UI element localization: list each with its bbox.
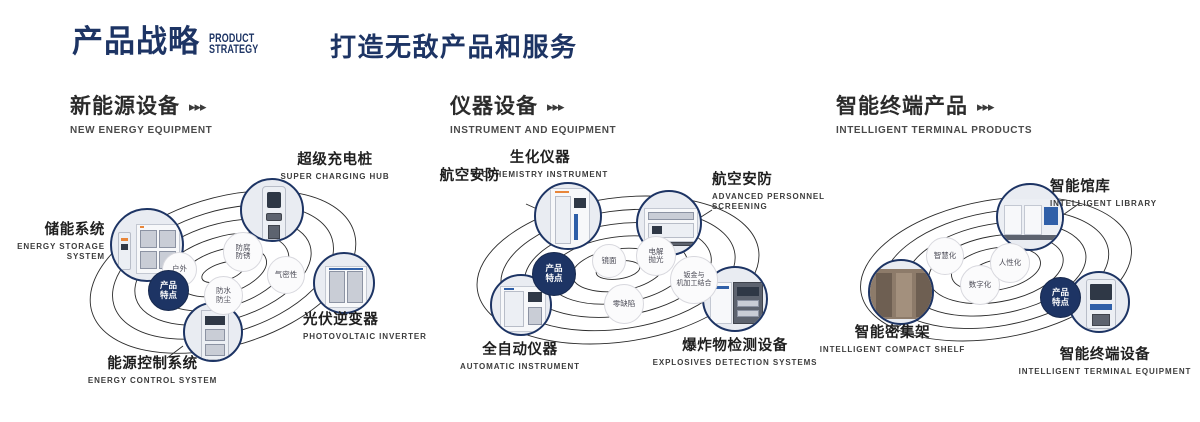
page-subtitle: 打造无敌产品和服务 [330, 34, 578, 60]
label-en: ENERGY CONTROL SYSTEM [65, 376, 240, 386]
bubble-zero-defect[interactable]: 零缺陷 [604, 284, 644, 324]
bubble-label: 气密性 [275, 271, 298, 279]
bubble-anticorrosion[interactable]: 防腐 防锈 [223, 232, 263, 272]
label-en: EXPLOSIVES DETECTION SYSTEMS [640, 358, 830, 368]
bubble-label-line2: 防锈 [236, 252, 251, 260]
label-cn: 超级充电桩 [265, 152, 405, 169]
label-cn: 智能终端设备 [1010, 347, 1200, 364]
core-label-line2: 特点 [1052, 298, 1069, 308]
label-en: INTELLIGENT TERMINAL EQUIPMENT [1010, 367, 1200, 377]
bubble-intelligent[interactable]: 智慧化 [926, 237, 964, 275]
bubble-waterproof-dustproof[interactable]: 防水 防尘 [204, 276, 243, 315]
section-title-en: INTELLIGENT TERMINAL PRODUCTS [836, 125, 1032, 136]
label-en: SUPER CHARGING HUB [265, 172, 405, 182]
bubble-label-line2: 防尘 [216, 296, 231, 304]
label-cn: 全自动仪器 [430, 342, 610, 359]
page-title-en-line2: STRATEGY [209, 45, 258, 56]
core-label-line2: 特点 [545, 274, 562, 284]
product-strategy-infographic: 产品战略 PRODUCT STRATEGY 打造无敌产品和服务 新能源设备▸▸▸… [0, 0, 1200, 422]
label-en: AUTOMATIC INSTRUMENT [430, 362, 610, 372]
node-photovoltaic-inverter[interactable] [313, 252, 375, 314]
chevron-right-icon: ▸▸▸ [189, 99, 206, 115]
charging-pile-icon [242, 180, 302, 240]
core-product-features[interactable]: 产品 特点 [148, 270, 189, 311]
label-intelligent-compact-shelf: 智能密集架 INTELLIGENT COMPACT SHELF [800, 325, 985, 355]
label-cn: 储能系统 [0, 222, 105, 239]
label-intelligent-library: 智能馆库 INTELLIGENT LIBRARY [1050, 179, 1190, 209]
section-title-cn: 智能终端产品 [836, 96, 968, 117]
section-heading-instrument: 仪器设备▸▸▸ INSTRUMENT AND EQUIPMENT [450, 96, 616, 136]
core-label-line2: 特点 [160, 291, 177, 301]
section-heading-intelligent-terminal: 智能终端产品▸▸▸ INTELLIGENT TERMINAL PRODUCTS [836, 96, 1032, 136]
bubble-label: 镜面 [602, 257, 617, 265]
label-en: INTELLIGENT LIBRARY [1050, 199, 1190, 209]
section-title-en: NEW ENERGY EQUIPMENT [70, 125, 212, 136]
biochemistry-analyzer-icon [536, 184, 600, 248]
chevron-right-icon: ▸▸▸ [977, 99, 994, 115]
label-cn: 生化仪器 [460, 150, 620, 167]
label-super-charging-hub: 超级充电桩 SUPER CHARGING HUB [265, 152, 405, 182]
label-energy-storage-system: 储能系统 ENERGY STORAGE SYSTEM [0, 222, 105, 262]
bubble-label: 零缺陷 [613, 300, 636, 308]
bubble-label: 人性化 [999, 259, 1022, 267]
label-energy-control-system: 能源控制系统 ENERGY CONTROL SYSTEM [65, 356, 240, 386]
inverter-cabinet-icon [315, 254, 373, 312]
section-heading-new-energy: 新能源设备▸▸▸ NEW ENERGY EQUIPMENT [70, 96, 212, 136]
bubble-electrolytic-polishing[interactable]: 电解 抛光 [636, 236, 676, 276]
bubble-label-line2: 机加工结合 [677, 280, 712, 288]
label-photovoltaic-inverter: 光伏逆变器 PHOTOVOLTAIC INVERTER [303, 312, 453, 342]
page-title: 产品战略 PRODUCT STRATEGY [72, 26, 272, 57]
section-title-cn: 新能源设备 [70, 96, 180, 117]
section-title-cn: 仪器设备 [450, 96, 538, 117]
node-biochemistry-instrument[interactable] [534, 182, 602, 250]
bubble-label-line2: 抛光 [649, 256, 664, 264]
core-product-features[interactable]: 产品 特点 [532, 252, 576, 296]
node-intelligent-compact-shelf[interactable] [868, 259, 934, 325]
label-en: ENERGY STORAGE SYSTEM [0, 242, 105, 263]
label-intelligent-terminal-equipment: 智能终端设备 INTELLIGENT TERMINAL EQUIPMENT [1010, 347, 1200, 377]
bubble-mirror-finish[interactable]: 镜面 [592, 244, 626, 278]
bubble-label: 智慧化 [934, 252, 957, 260]
label-cn: 航空安防 [712, 172, 842, 189]
label-cn: 智能馆库 [1050, 179, 1190, 196]
label-aviation-security-left: 航空安防 [388, 168, 500, 185]
label-en: ADVANCED PERSONNEL SCREENING [712, 192, 842, 213]
bubble-sheet-metal-machining[interactable]: 钣金与 机加工结合 [670, 256, 718, 304]
label-advanced-personnel-screening: 航空安防 ADVANCED PERSONNEL SCREENING [712, 172, 842, 212]
compact-shelf-icon [870, 261, 932, 323]
label-en: INTELLIGENT COMPACT SHELF [800, 345, 985, 355]
cluster-new-energy: 储能系统 ENERGY STORAGE SYSTEM 超级充电桩 SUPER C… [55, 160, 425, 390]
bubble-label: 数字化 [969, 281, 992, 289]
page-title-en: PRODUCT STRATEGY [209, 34, 258, 56]
label-automatic-instrument: 全自动仪器 AUTOMATIC INSTRUMENT [430, 342, 610, 372]
label-cn: 智能密集架 [800, 325, 985, 342]
bubble-label-line1: 钣金与 [677, 272, 712, 280]
bubble-user-friendly[interactable]: 人性化 [990, 243, 1030, 283]
label-cn: 光伏逆变器 [303, 312, 453, 329]
page-title-cn: 产品战略 [72, 26, 200, 57]
cluster-instrument: 生化仪器 BIOCHEMISTRY INSTRUMENT 航空安防 航空安防 A… [440, 160, 820, 390]
cluster-intelligent-terminal: 智能馆库 INTELLIGENT LIBRARY 智能密集架 INTELLIGE… [828, 165, 1200, 395]
bubble-airtightness[interactable]: 气密性 [267, 256, 305, 294]
chevron-right-icon: ▸▸▸ [547, 99, 564, 115]
label-cn: 航空安防 [388, 168, 500, 185]
label-cn: 能源控制系统 [65, 356, 240, 373]
section-title-en: INSTRUMENT AND EQUIPMENT [450, 125, 616, 136]
core-product-features[interactable]: 产品 特点 [1040, 277, 1081, 318]
label-en: PHOTOVOLTAIC INVERTER [303, 332, 453, 342]
